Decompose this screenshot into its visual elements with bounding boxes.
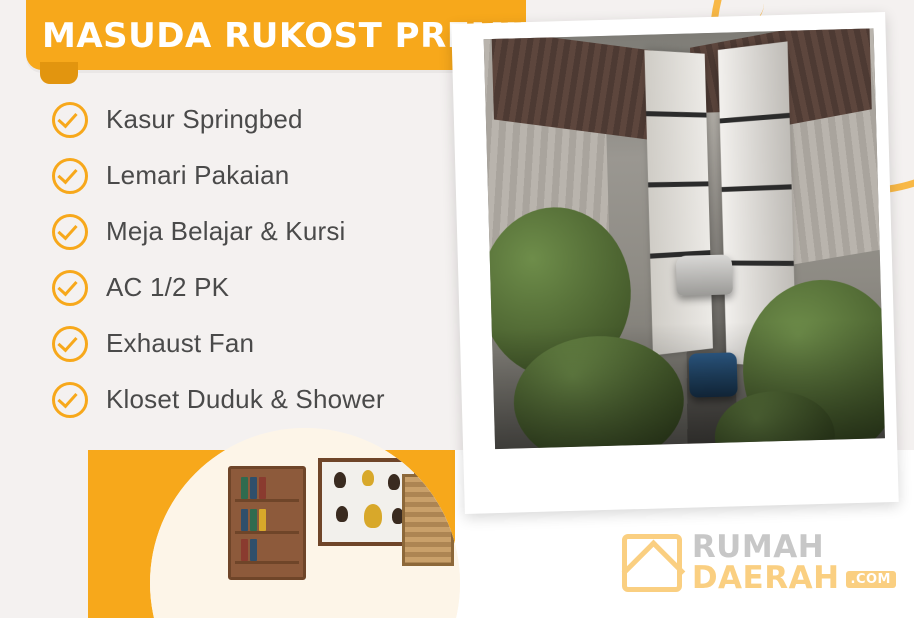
photo-balcony-line xyxy=(720,113,790,124)
list-item: Kloset Duduk & Shower xyxy=(52,372,472,427)
shelf-row xyxy=(235,499,299,502)
feature-label: Kloset Duduk & Shower xyxy=(106,384,385,415)
watermark-line-1: RUMAH xyxy=(692,532,896,563)
shelf-row xyxy=(235,531,299,534)
check-circle-icon xyxy=(52,382,88,418)
watermark-text: RUMAH DAERAH.COM xyxy=(692,532,896,594)
book-icon xyxy=(259,477,266,499)
window-blinds-icon xyxy=(402,474,454,566)
beetle-icon xyxy=(364,504,382,528)
poster-canvas: MASUDA RUKOST PREMIUM Kasur Springbed Le… xyxy=(0,0,914,618)
bottom-left-gap xyxy=(0,450,88,618)
house-outline-icon xyxy=(622,534,682,592)
check-circle-icon xyxy=(52,158,88,194)
feature-list: Kasur Springbed Lemari Pakaian Meja Bela… xyxy=(52,92,472,428)
list-item: Lemari Pakaian xyxy=(52,148,472,203)
watermark-domain-badge: .COM xyxy=(846,571,896,588)
check-circle-icon xyxy=(52,326,88,362)
photo-balcony-line xyxy=(722,184,792,192)
feature-label: Lemari Pakaian xyxy=(106,160,289,191)
photo-vignette xyxy=(492,318,885,449)
watermark-line-2: DAERAH.COM xyxy=(692,563,896,594)
feature-label: Exhaust Fan xyxy=(106,328,254,359)
list-item: Exhaust Fan xyxy=(52,316,472,371)
book-icon xyxy=(259,509,266,531)
list-item: AC 1/2 PK xyxy=(52,260,472,315)
check-circle-icon xyxy=(52,214,88,250)
page-title: MASUDA RUKOST PREMIUM xyxy=(42,6,512,66)
book-icon xyxy=(250,539,257,561)
feature-label: Kasur Springbed xyxy=(106,104,303,135)
watermark: RUMAH DAERAH.COM xyxy=(622,532,896,594)
book-icon xyxy=(241,477,248,499)
beetle-icon xyxy=(362,470,374,486)
beetle-icon xyxy=(336,506,348,522)
check-circle-icon xyxy=(52,102,88,138)
check-circle-icon xyxy=(52,270,88,306)
photo-balcony-line xyxy=(724,261,794,266)
list-item: Meja Belajar & Kursi xyxy=(52,204,472,259)
photo-card xyxy=(451,12,899,514)
watermark-line-2-text: DAERAH xyxy=(692,560,840,596)
book-icon xyxy=(241,539,248,561)
book-icon xyxy=(241,509,248,531)
shelf-row xyxy=(235,561,299,564)
aerial-render-of-boarding-house-complex xyxy=(484,28,885,449)
photo-balcony-line xyxy=(646,111,706,117)
book-icon xyxy=(250,509,257,531)
study-room-illustration xyxy=(150,428,460,618)
book-icon xyxy=(250,477,257,499)
bookshelf-icon xyxy=(228,466,306,580)
beetle-icon xyxy=(388,474,400,490)
list-item: Kasur Springbed xyxy=(52,92,472,147)
photo-balcony-line xyxy=(648,181,708,187)
feature-label: AC 1/2 PK xyxy=(106,272,229,303)
illustration-circle xyxy=(150,428,460,618)
photo-car-white xyxy=(676,254,733,296)
photo-building-left xyxy=(644,50,713,355)
feature-label: Meja Belajar & Kursi xyxy=(106,216,346,247)
beetle-icon xyxy=(334,472,346,488)
